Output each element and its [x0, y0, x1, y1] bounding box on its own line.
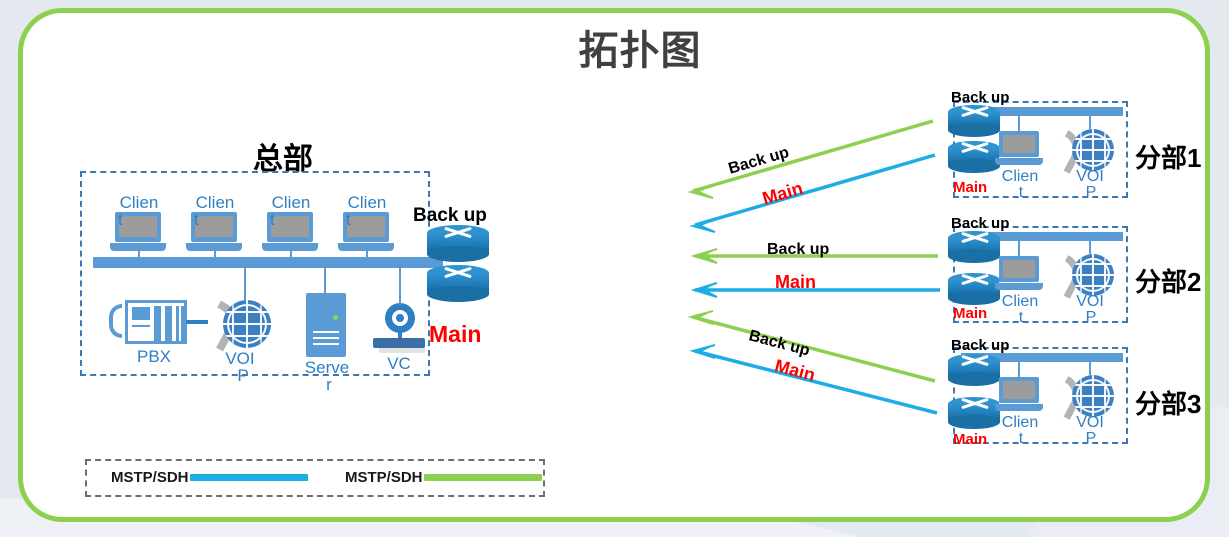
- router-switch-icon: [957, 141, 991, 155]
- branch2-router-main-label: Main: [953, 305, 987, 322]
- laptop-icon: [995, 256, 1043, 294]
- branch3-client-stem: [1018, 359, 1020, 378]
- branch1-router-backup[interactable]: [948, 105, 1000, 137]
- branch1-link-main-label: Main: [760, 178, 805, 210]
- branch2-client-stem: [1018, 238, 1020, 257]
- branch1-voip-label: VOI P: [1064, 169, 1116, 202]
- branch1-link-backup-label: Back up: [726, 144, 791, 179]
- legend-item-0: MSTP/SDH: [111, 469, 308, 486]
- server-icon: [306, 293, 346, 357]
- diagram-stage: 拓扑图 总部 Clien t: [23, 13, 1205, 517]
- branch3-client-label: Clien t: [993, 415, 1047, 448]
- link-backup-branch3-arrowhead: [691, 311, 713, 324]
- router-switch-icon: [957, 273, 991, 287]
- branch1-client-label: Clien t: [993, 169, 1047, 202]
- hq-router-main[interactable]: [427, 265, 489, 303]
- hq-client-stem-2: [290, 251, 292, 261]
- hq-device-label-pbx: PBX: [123, 348, 185, 365]
- hq-server-stem: [324, 265, 326, 295]
- branch2-name: 分部2: [1135, 269, 1201, 295]
- voip-icon: [209, 298, 271, 352]
- branch3-router-backup-label: Back up: [951, 337, 1009, 354]
- router-switch-icon: [957, 105, 991, 119]
- branch2-voip-label: VOI P: [1064, 294, 1116, 327]
- router-switch-icon: [440, 226, 476, 240]
- hq-client-stem-0: [138, 251, 140, 261]
- branch3-voip-label: VOI P: [1064, 415, 1116, 448]
- branch2-router-backup[interactable]: [948, 231, 1000, 263]
- branch1-client-stem: [1018, 113, 1020, 132]
- globe-icon: [1072, 254, 1114, 296]
- legend: MSTP/SDH MSTP/SDH: [85, 459, 545, 497]
- hq-router-main-label: Main: [429, 321, 481, 348]
- router-switch-icon: [957, 231, 991, 245]
- diagram-canvas: 拓扑图 总部 Clien t: [18, 8, 1210, 522]
- router-switch-icon: [440, 266, 476, 280]
- legend-label-1: MSTP/SDH: [345, 469, 423, 486]
- globe-icon: [223, 300, 271, 348]
- branch1-router-backup-label: Back up: [951, 89, 1009, 106]
- legend-label-0: MSTP/SDH: [111, 469, 189, 486]
- hq-bus-bar: [93, 257, 443, 268]
- hq-voip-stem: [244, 265, 246, 301]
- laptop-icon: [995, 377, 1043, 415]
- branch2-voip-stem: [1089, 238, 1091, 254]
- vc-camera-icon: [371, 301, 427, 355]
- link-backup-branch1-arrowhead: [691, 186, 713, 198]
- hq-router-backup[interactable]: [427, 225, 489, 263]
- globe-icon: [1072, 129, 1114, 171]
- hq-device-label-vc: VC: [371, 355, 427, 372]
- hq-client-label-0: Clien t: [104, 194, 174, 229]
- legend-swatch-main: [190, 474, 308, 481]
- branch3-link-main-label: Main: [772, 355, 817, 386]
- hq-router-backup-label: Back up: [413, 205, 487, 227]
- legend-swatch-backup: [424, 474, 542, 481]
- link-main-branch3-arrowhead: [693, 345, 715, 358]
- link-main-branch1-arrowhead: [693, 220, 715, 232]
- hq-client-stem-1: [214, 251, 216, 261]
- hq-device-label-server: Serve r: [298, 359, 356, 394]
- link-backup-branch1: [693, 121, 933, 191]
- branch3-router-main-label: Main: [953, 431, 987, 448]
- hq-client-label-1: Clien t: [180, 194, 250, 229]
- globe-icon: [1072, 375, 1114, 417]
- hq-client-label-3: Clien t: [332, 194, 402, 229]
- hq-client-stem-3: [366, 251, 368, 261]
- link-main-branch3: [695, 351, 937, 413]
- router-switch-icon: [957, 354, 991, 368]
- branch1-router-main-label: Main: [953, 179, 987, 196]
- branch2-client-label: Clien t: [993, 294, 1047, 327]
- hq-device-label-voip: VOI P: [209, 350, 271, 385]
- link-main-branch2-arrowhead: [694, 283, 717, 297]
- legend-item-1: MSTP/SDH: [345, 469, 542, 486]
- router-switch-icon: [957, 397, 991, 411]
- pbx-icon: [109, 298, 199, 346]
- branch1-voip-stem: [1089, 113, 1091, 129]
- link-backup-branch2-arrowhead: [694, 249, 717, 263]
- hq-vc-stem: [399, 265, 401, 305]
- branch2-link-main-label: Main: [775, 272, 816, 293]
- branch2-link-backup-label: Back up: [767, 241, 829, 259]
- hq-client-label-2: Clien t: [256, 194, 326, 229]
- laptop-icon: [995, 131, 1043, 169]
- branch3-router-backup[interactable]: [948, 354, 1000, 386]
- branch3-name: 分部3: [1135, 391, 1201, 417]
- branch3-voip-stem: [1089, 359, 1091, 375]
- branch1-name: 分部1: [1135, 145, 1201, 171]
- branch2-router-backup-label: Back up: [951, 215, 1009, 232]
- page-title: 拓扑图: [520, 31, 760, 71]
